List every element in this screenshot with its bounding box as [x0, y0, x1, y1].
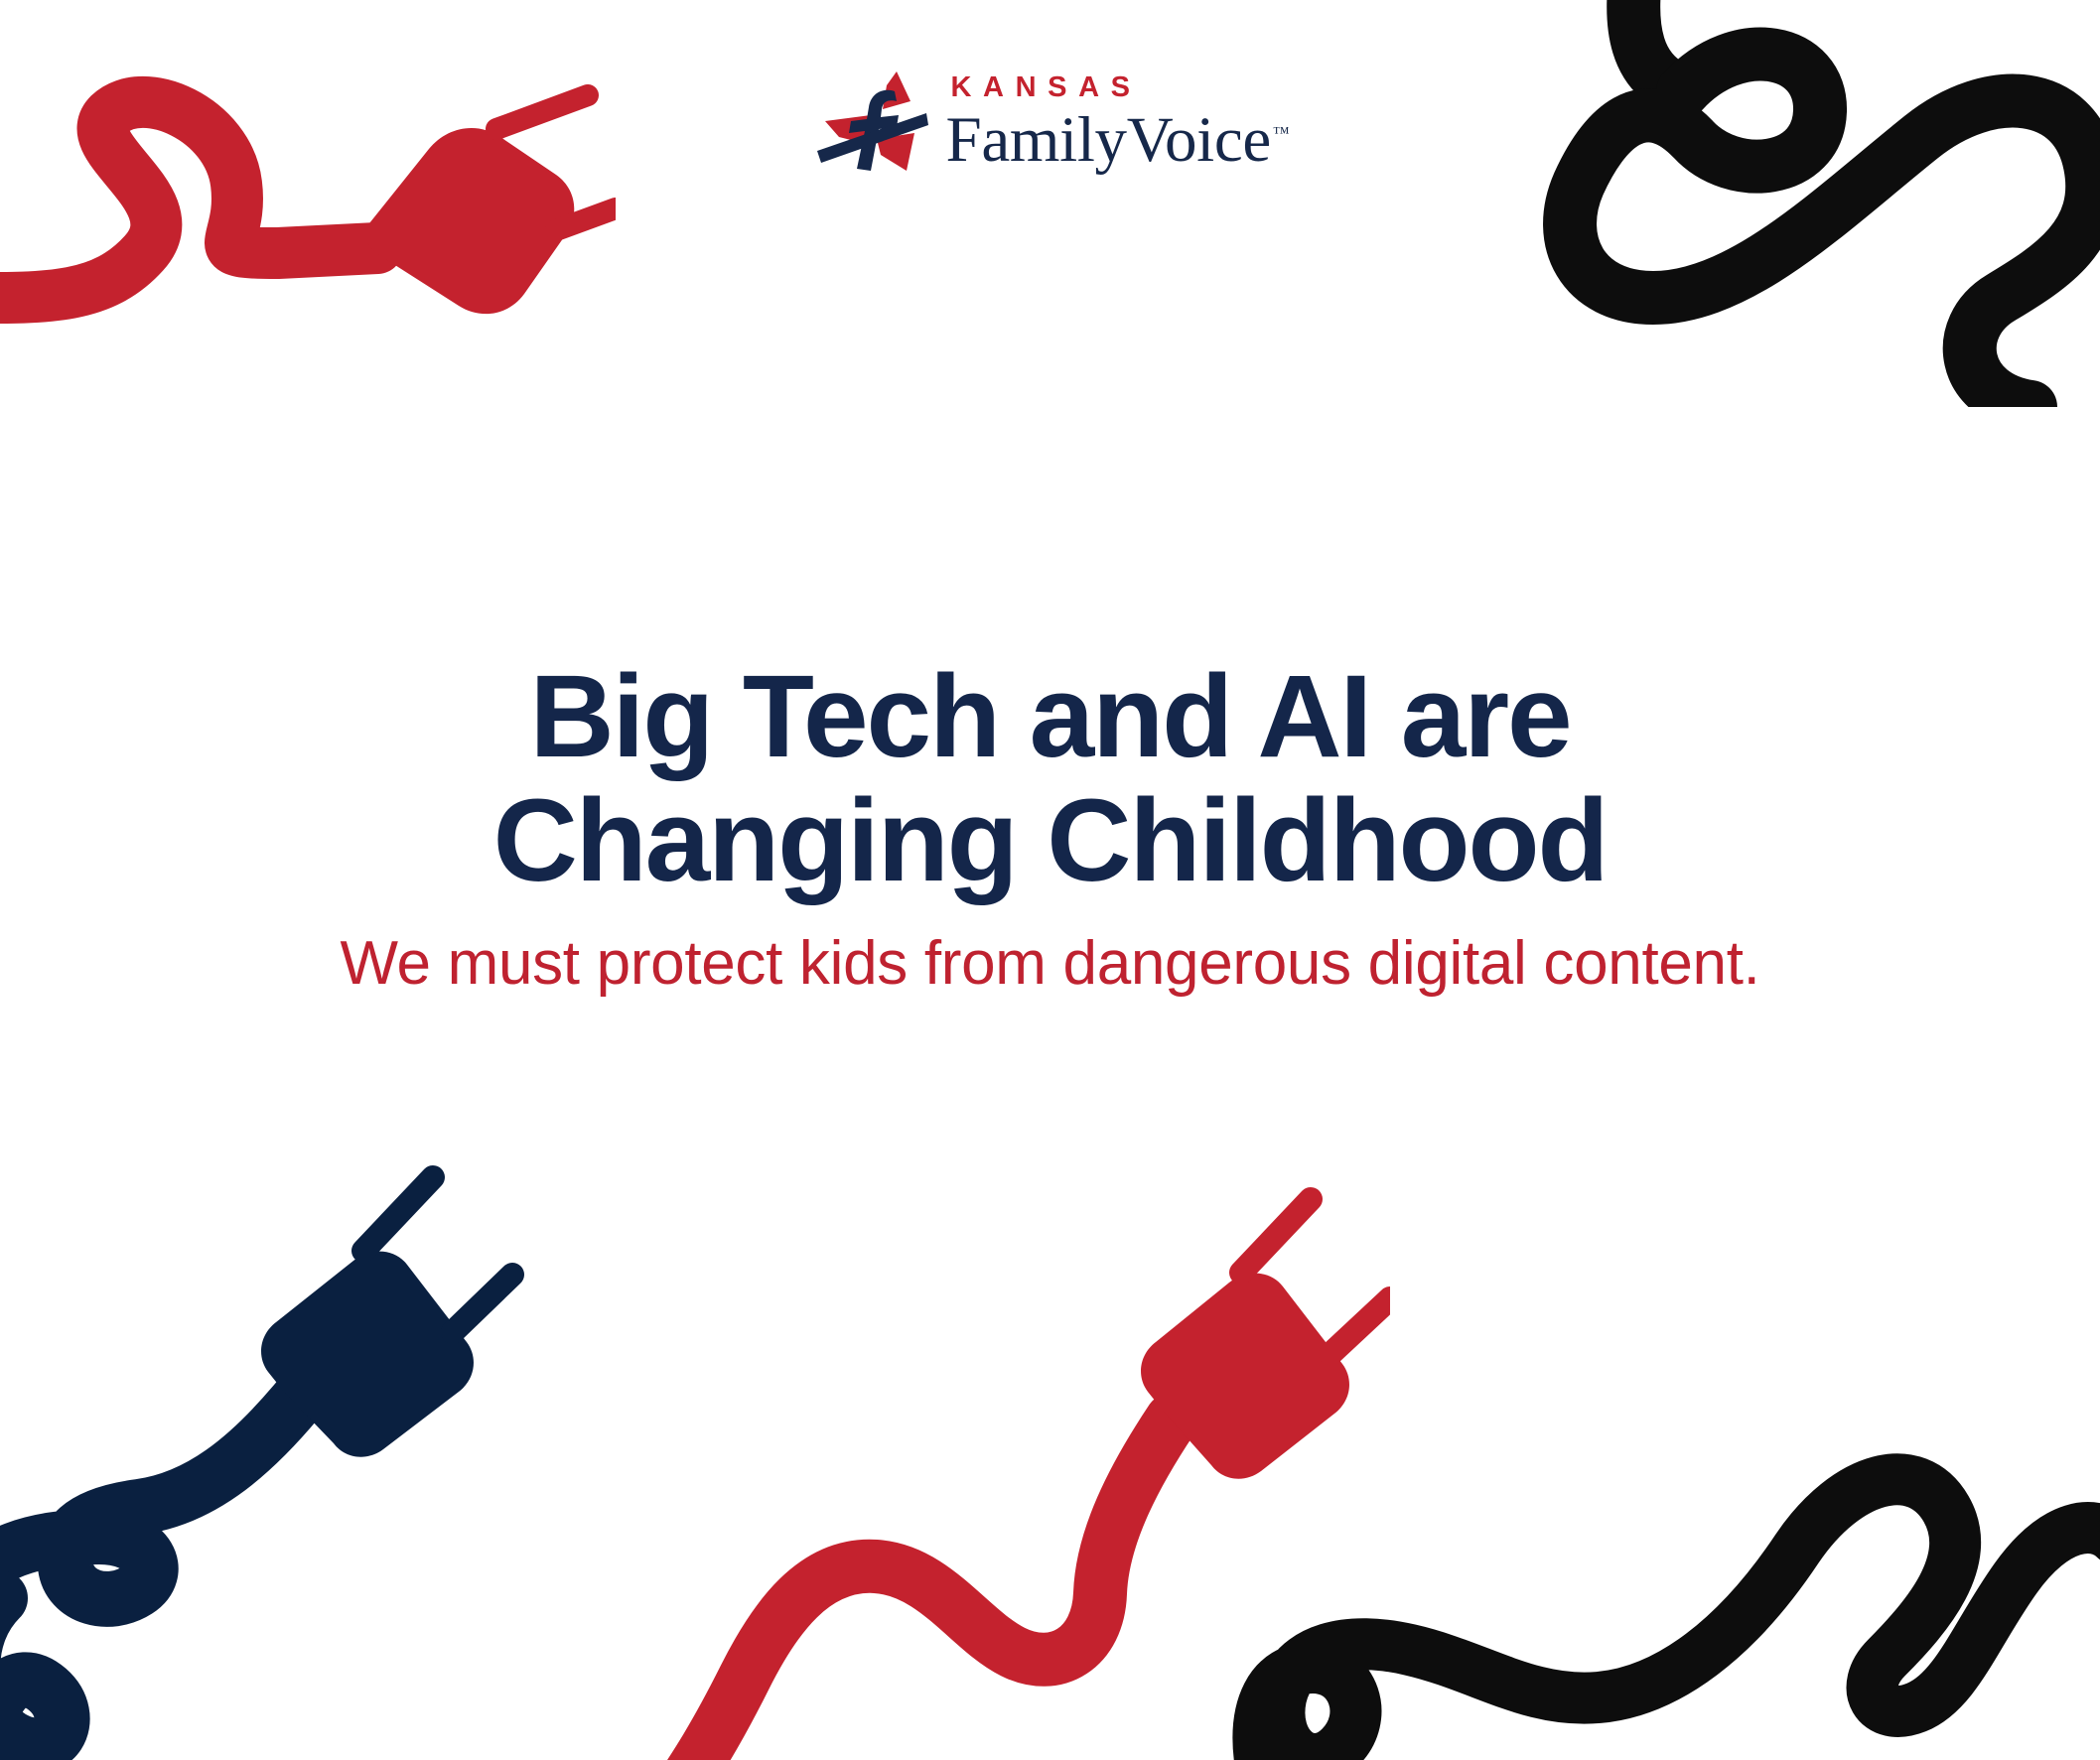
page-title: Big Tech and AI are Changing Childhood [89, 655, 2011, 903]
trademark-symbol: ™ [1273, 123, 1290, 142]
headline-line-1: Big Tech and AI are [89, 655, 2011, 779]
headline-line-2: Changing Childhood [89, 779, 2011, 903]
plug-cord-bottom-center [655, 1122, 1390, 1760]
cord-bottom-right [1221, 1370, 2100, 1760]
logo-familyvoice-text: FamilyVoice™ [946, 106, 1290, 175]
headline-block: Big Tech and AI are Changing Childhood W… [0, 655, 2100, 1002]
poster-canvas: KANSAS FamilyVoice™ Big Tech and AI are … [0, 0, 2100, 1760]
logo-kansas-text: KANSAS [951, 73, 1142, 102]
cord-top-right [1534, 0, 2100, 407]
plug-cord-bottom-left [0, 1102, 586, 1760]
plug-cord-top-left [0, 0, 616, 397]
page-subtitle: We must protect kids from dangerous digi… [89, 927, 2011, 1001]
brand-logo: KANSAS FamilyVoice™ [0, 68, 2100, 179]
logo-familyvoice-label: FamilyVoice [946, 104, 1271, 176]
kansas-family-voice-star-f-mark [811, 68, 930, 179]
